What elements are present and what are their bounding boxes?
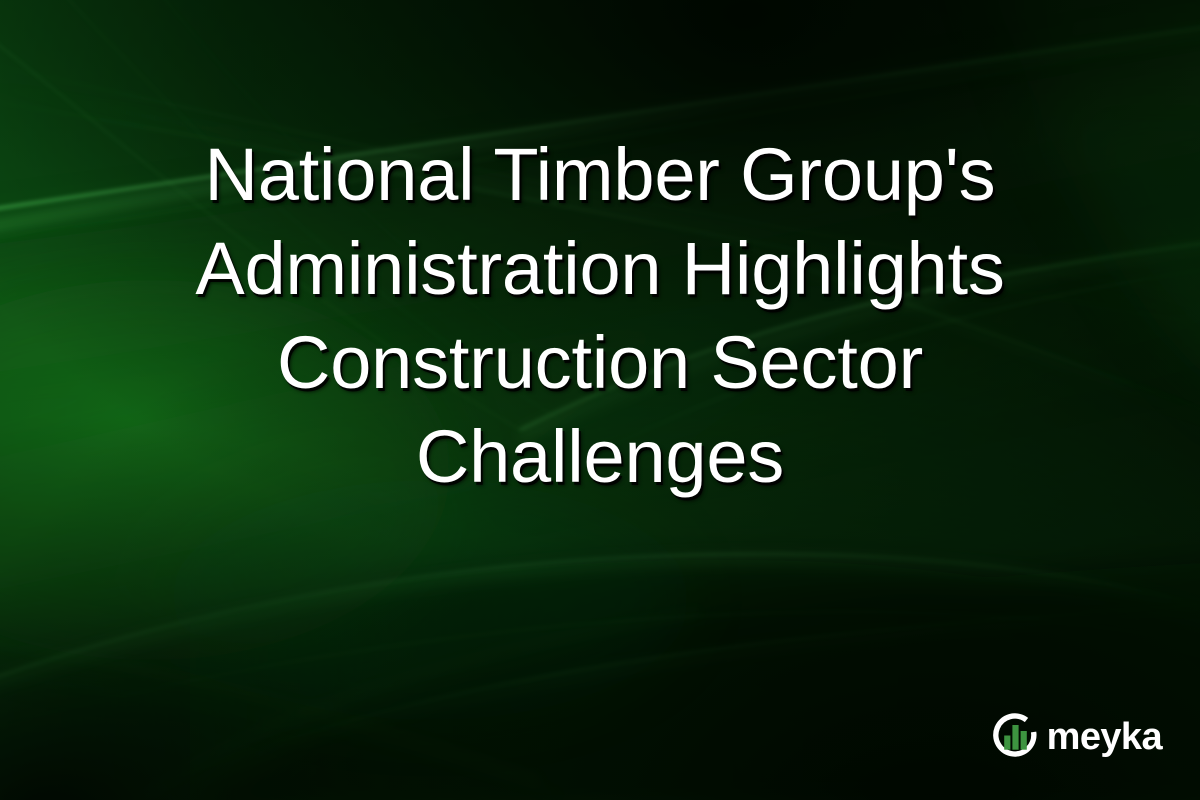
article-banner-card: National Timber Group's Administration H…: [0, 0, 1200, 800]
meyka-wordmark: meyka: [1047, 718, 1162, 756]
page-title: National Timber Group's Administration H…: [195, 128, 1004, 504]
meyka-circle-bars-icon: [989, 710, 1041, 762]
headline-block: National Timber Group's Administration H…: [0, 128, 1200, 504]
meyka-logo[interactable]: meyka: [989, 710, 1162, 762]
